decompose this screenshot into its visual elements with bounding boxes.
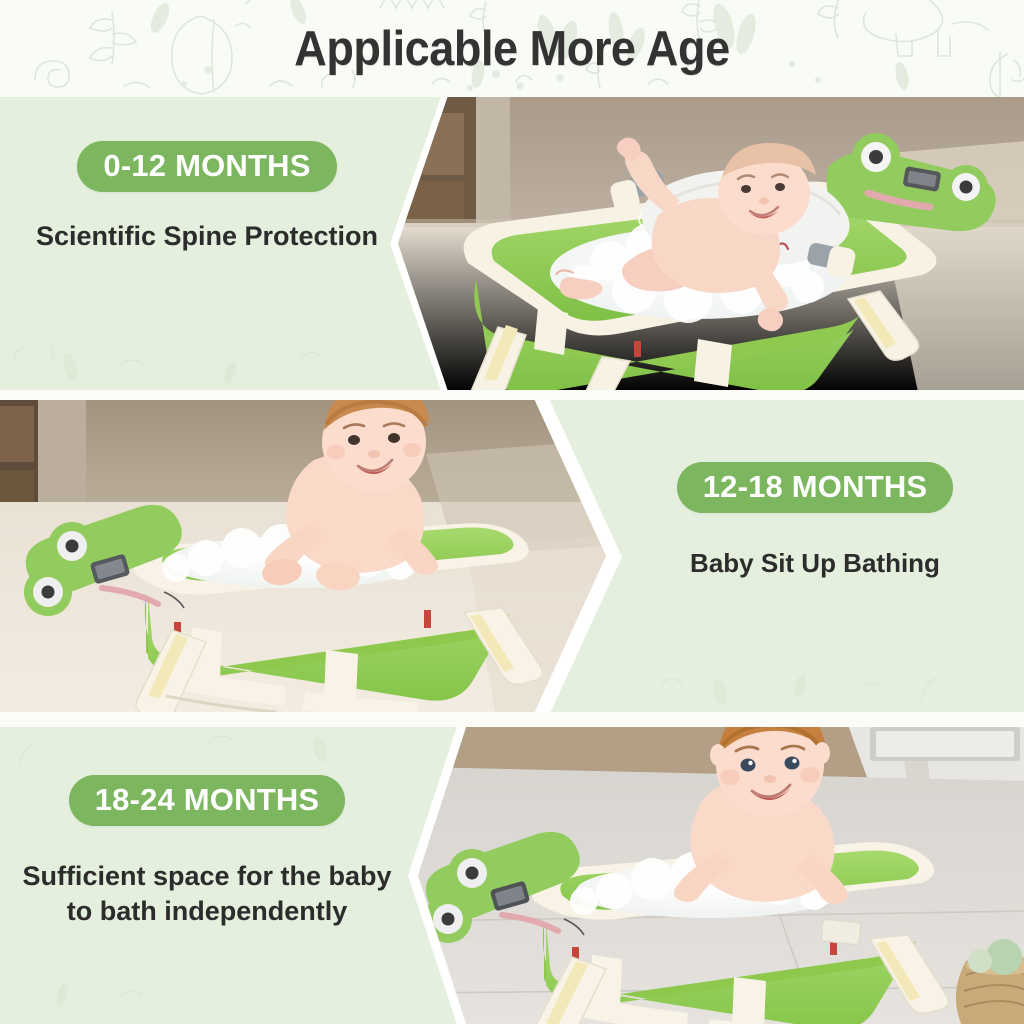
panel-caption-18-24-months: Sufficient space for the baby to bath in… <box>12 859 402 929</box>
panel-12-18-months: 12-18 MONTHS Baby Sit Up Bathing <box>0 400 1024 712</box>
age-badge-18-24-months: 18-24 MONTHS <box>69 775 346 826</box>
baby-sitting-up-in-bathtub-photo <box>0 400 606 712</box>
panel-0-12-months: 0-12 MONTHS Scientific Spine Protection <box>0 97 1024 390</box>
newborn-lying-in-folding-bathtub-photo <box>398 97 1024 390</box>
age-badge-12-18-months: 12-18 MONTHS <box>677 462 954 513</box>
header-banner: Applicable More Age <box>0 0 1024 97</box>
toddler-bathing-independently-photo <box>418 727 1024 1024</box>
age-badge-0-12-months: 0-12 MONTHS <box>77 141 336 192</box>
panel-18-24-months-text: 18-24 MONTHS Sufficient space for the ba… <box>12 775 402 929</box>
panel-12-18-months-text: 12-18 MONTHS Baby Sit Up Bathing <box>624 462 1006 581</box>
panel-caption-0-12-months: Scientific Spine Protection <box>36 219 378 254</box>
panel-18-24-months: 18-24 MONTHS Sufficient space for the ba… <box>0 727 1024 1024</box>
panel-caption-12-18-months: Baby Sit Up Bathing <box>690 547 940 581</box>
page-title: Applicable More Age <box>41 0 983 97</box>
product-infographic: Applicable More Age <box>0 0 1024 1024</box>
panel-0-12-months-text: 0-12 MONTHS Scientific Spine Protection <box>22 141 392 254</box>
